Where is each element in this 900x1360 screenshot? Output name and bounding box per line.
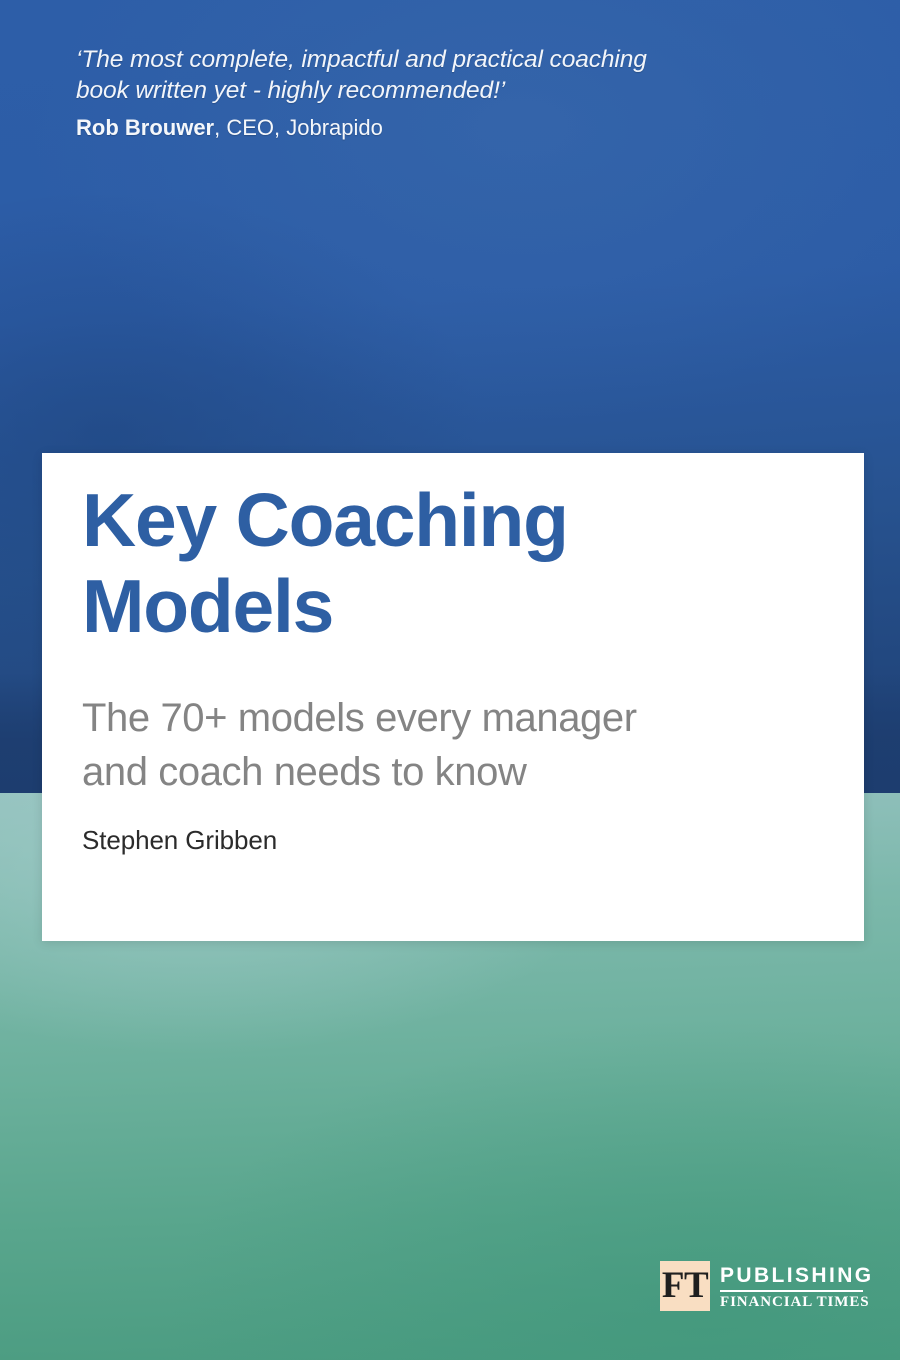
ft-logo-wordmark: PUBLISHING FINANCIAL TIMES — [720, 1261, 874, 1311]
testimonial-attribution: Rob Brouwer, CEO, Jobrapido — [76, 114, 716, 142]
logo-divider — [720, 1290, 863, 1292]
subtitle-line-1: The 70+ models every manager — [82, 691, 812, 745]
testimonial-quote: ‘The most complete, impactful and practi… — [76, 44, 716, 142]
book-cover: ‘The most complete, impactful and practi… — [0, 0, 900, 1360]
title-line-1: Key Coaching — [82, 477, 822, 563]
page-subtitle: The 70+ models every manager and coach n… — [82, 691, 812, 799]
page-title: Key Coaching Models — [82, 477, 822, 649]
quote-line-2: book written yet - highly recommended!’ — [76, 75, 716, 106]
ft-publishing-logo: FT PUBLISHING FINANCIAL TIMES — [660, 1261, 864, 1313]
attribution-name: Rob Brouwer — [76, 115, 214, 140]
publisher-name: PUBLISHING — [720, 1264, 874, 1287]
ft-monogram-icon: FT — [660, 1261, 710, 1311]
quote-line-1: ‘The most complete, impactful and practi… — [76, 44, 716, 75]
author-name: Stephen Gribben — [82, 825, 277, 856]
publisher-imprint: FINANCIAL TIMES — [720, 1294, 874, 1311]
title-line-2: Models — [82, 563, 822, 649]
attribution-role: , CEO, Jobrapido — [214, 115, 383, 140]
subtitle-line-2: and coach needs to know — [82, 745, 812, 799]
title-panel: Key Coaching Models The 70+ models every… — [42, 453, 864, 941]
